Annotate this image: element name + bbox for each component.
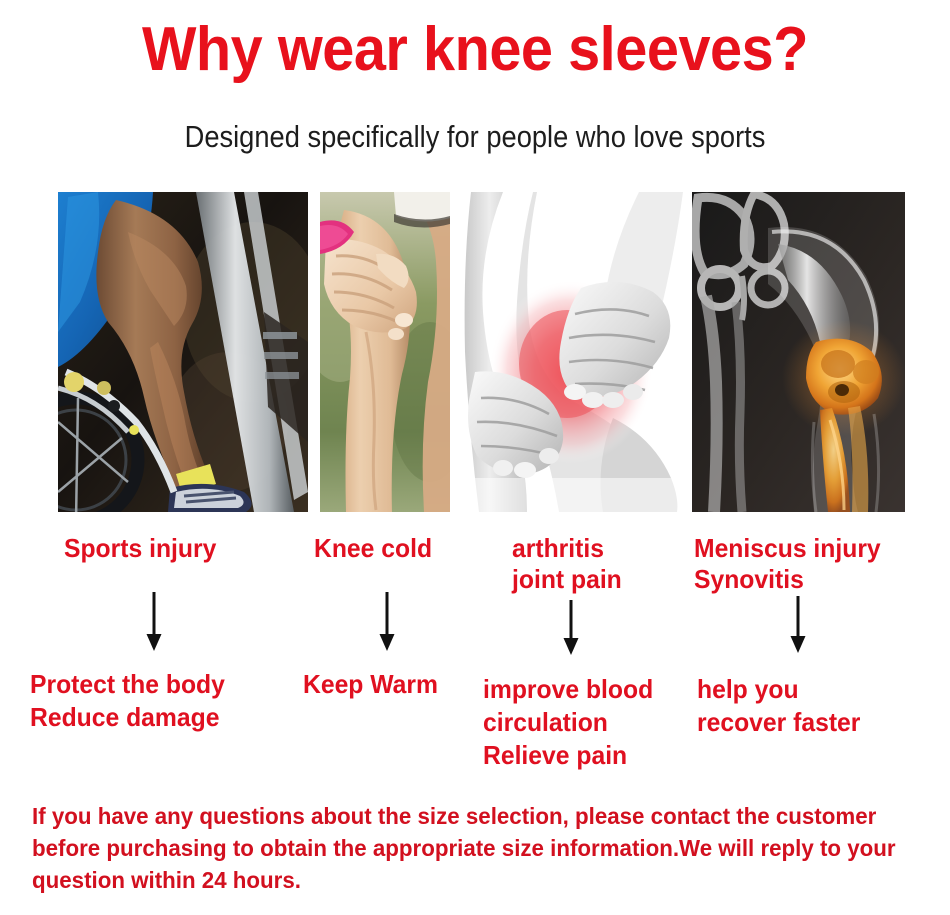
condition-label-knee-cold: Knee cold [314,533,432,564]
inflamed-knee-pain-photo [463,192,683,512]
benefit-label-keep-warm: Keep Warm [303,668,438,701]
down-arrow-icon [563,600,579,661]
condition-label-arthritis: arthritis joint pain [512,533,622,595]
condition-label-meniscus: Meniscus injury Synovitis [694,533,881,595]
cyclist-bare-knee-photo [58,192,308,512]
hands-holding-cold-knee-photo [320,192,450,512]
down-arrow-icon [790,596,806,659]
down-arrow-icon [146,592,162,657]
down-arrow-icon [379,592,395,657]
benefit-label-protect-body: Protect the body Reduce damage [30,668,225,734]
knee-joint-xray-photo [692,192,905,512]
benefit-label-improve-circulation: improve blood circulation Relieve pain [483,673,653,772]
benefit-label-recover-faster: help you recover faster [697,673,860,739]
condition-label-sports-injury: Sports injury [64,533,216,564]
size-selection-notice: If you have any questions about the size… [32,800,910,896]
photo-row [0,0,950,915]
